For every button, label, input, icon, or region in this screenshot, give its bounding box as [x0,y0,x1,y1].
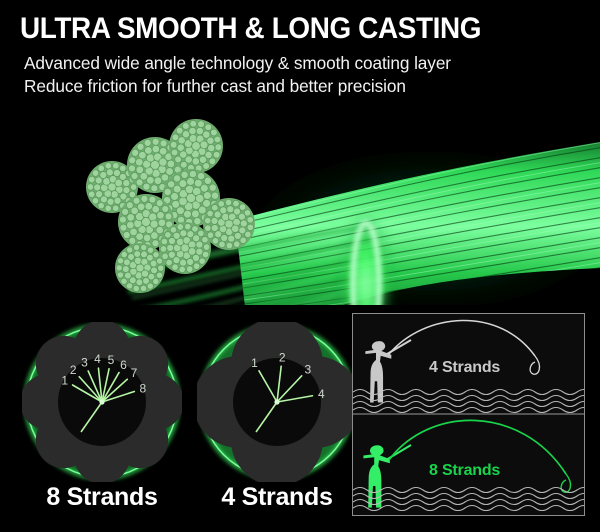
diagram-4-strands: 1234 [197,322,357,482]
strand-number: 7 [131,366,138,380]
subtitle-line-1: Advanced wide angle technology & smooth … [24,53,451,74]
cast-arc-gray [389,320,535,356]
strand-number: 4 [94,352,101,366]
strand-number: 2 [279,350,286,364]
subtitle-line-2: Reduce friction for further cast and bet… [24,76,406,97]
comparison-svg [353,314,584,515]
comparison-label-4-strands: 4 Strands [429,359,500,377]
strand-number: 2 [70,363,77,377]
cast-distance-comparison-panel: 4 Strands 8 Strands [352,313,585,516]
diagram-8-label: 8 Strands [22,483,182,512]
comparison-label-8-strands: 8 Strands [429,462,500,480]
water-waves-bottom [353,488,584,511]
diagram-8-strands: 12345678 [22,322,182,482]
diagram-8-svg: 12345678 [22,322,182,482]
strand-cross-section [203,198,255,250]
strand-cross-sections [86,119,255,293]
strand-number: 1 [61,374,68,388]
hook-loop-gray [530,356,539,374]
strand-number: 1 [251,356,258,370]
strand-number: 4 [318,387,325,401]
header: ULTRA SMOOTH & LONG CASTING Advanced wid… [0,0,600,108]
strand-cross-section [159,222,211,274]
diagram-4-label: 4 Strands [197,483,357,512]
strand-number: 8 [140,382,147,396]
strand-number: 3 [305,362,312,376]
strand-cross-section [169,119,223,173]
hero-svg [0,100,600,305]
diagram-4-svg: 1234 [197,322,357,482]
water-waves-top [353,390,584,413]
promo-image-root: ULTRA SMOOTH & LONG CASTING Advanced wid… [0,0,600,532]
strand-number: 3 [81,356,88,370]
hero-illustration [0,100,600,305]
strand-cross-section [115,243,165,293]
strand-number: 5 [108,353,115,367]
strand-number: 6 [120,358,127,372]
page-title: ULTRA SMOOTH & LONG CASTING [20,12,481,46]
